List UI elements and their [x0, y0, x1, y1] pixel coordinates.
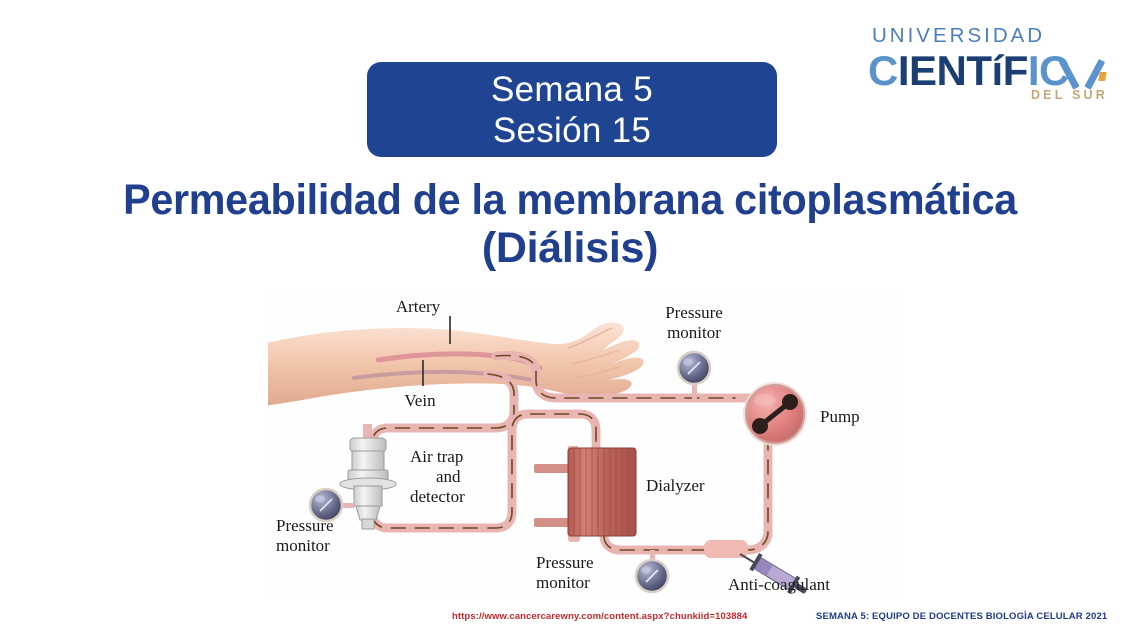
logo-letter-iacute: í [992, 47, 1003, 94]
label-pressure-monitor-bottom-line2: monitor [536, 573, 590, 592]
label-dialyzer: Dialyzer [646, 476, 705, 495]
label-air-trap-line1: Air trap [410, 447, 463, 466]
label-air-trap-line2: and [436, 467, 461, 486]
logo-universidad-text: UNIVERSIDAD [868, 26, 1114, 47]
logo-tagline: DEL SUR [1031, 88, 1108, 102]
label-pressure-monitor-top-line1: Pressure [665, 303, 723, 322]
label-pump: Pump [820, 407, 860, 426]
page-title-line1: Permeabilidad de la membrana citoplasmát… [80, 176, 1059, 224]
label-pressure-monitor-left-line2: monitor [276, 536, 330, 555]
page-title: Permeabilidad de la membrana citoplasmát… [60, 176, 1080, 272]
page-title-line2: (Diálisis) [60, 224, 1080, 272]
blood-pump [743, 382, 807, 446]
university-logo: UNIVERSIDAD CIENTíFIC DEL SUR [868, 26, 1114, 108]
source-url[interactable]: https://www.cancercarewny.com/content.as… [452, 611, 747, 622]
hemodialysis-diagram: Artery Vein Pressure monitor Pump Air tr… [268, 288, 904, 598]
logo-letter-c: C [868, 47, 898, 94]
label-anticoagulant: Anti-coagulant [728, 575, 830, 594]
label-air-trap-line3: detector [410, 487, 465, 506]
label-pressure-monitor-top-line2: monitor [667, 323, 721, 342]
logo-letters-ient: IENT [898, 47, 992, 94]
logo-a-chevron-icon [1067, 57, 1097, 87]
label-vein: Vein [404, 391, 436, 410]
label-pressure-monitor-bottom-line1: Pressure [536, 553, 594, 572]
banner-session-label: Sesión 15 [493, 110, 651, 151]
label-artery: Artery [396, 297, 441, 316]
logo-cientifica-text: CIENTíFIC [868, 49, 1114, 93]
session-banner: Semana 5 Sesión 15 [367, 62, 777, 157]
label-pressure-monitor-left-line1: Pressure [276, 516, 334, 535]
banner-week-label: Semana 5 [491, 69, 653, 110]
course-footer-label: SEMANA 5: EQUIPO DE DOCENTES BIOLOGÌA CE… [816, 611, 1107, 622]
logo-letter-f: F [1003, 47, 1028, 94]
